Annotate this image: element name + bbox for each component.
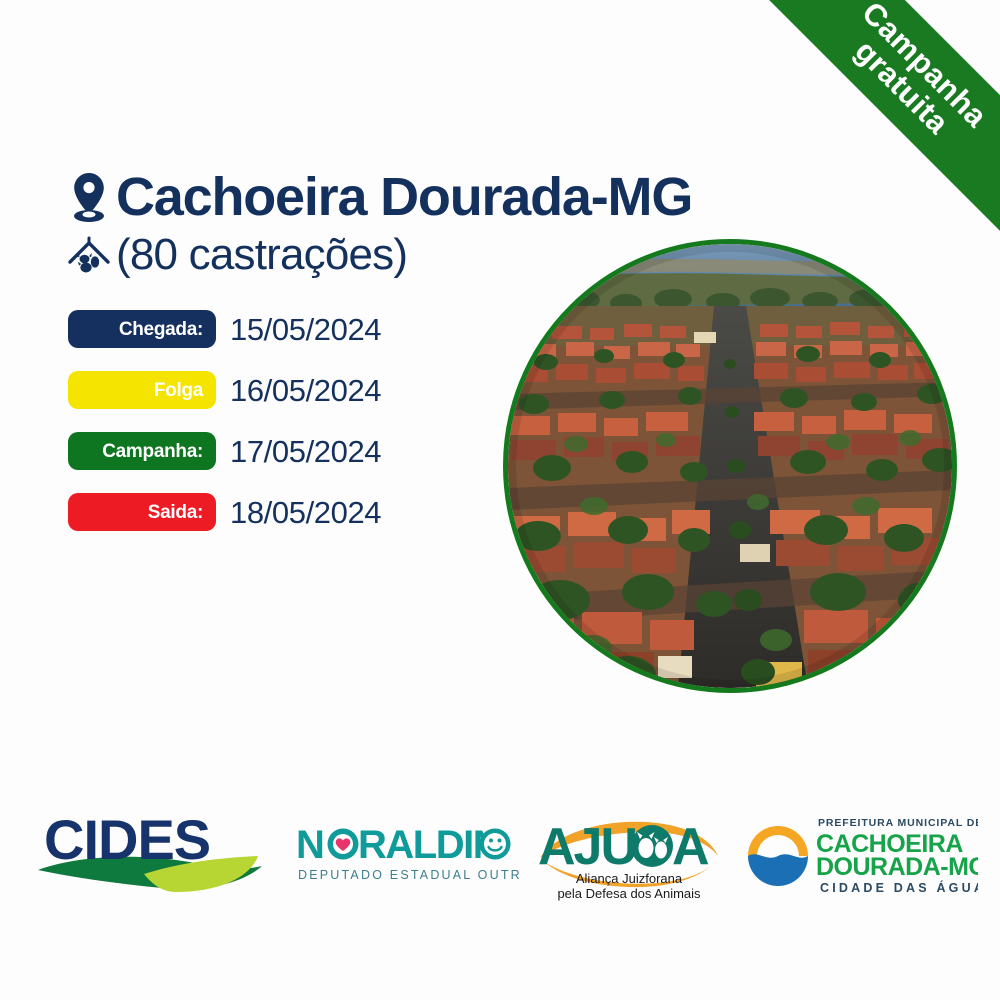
noraldino-wordmark-icon: N RALDIN DEPUTADO ESTADUAL OUTRA VEZ [292,818,520,890]
schedule-row-campaign: Campanha: 17/05/2024 [68,432,381,470]
schedule-badge-campaign: Campanha: [68,432,216,470]
prefeitura-tagline: CIDADE DAS ÁGUAS [820,880,978,895]
aerial-town-photo-graphic [508,244,952,688]
svg-text:RALDIN: RALDIN [358,823,500,867]
smiley-face-icon [480,829,511,860]
sun-water-emblem-icon [748,826,808,886]
ribbon-band: Campanha gratuita [727,0,1000,262]
ajuda-wordmark-icon: AJU A Aliança Juizforana pela Defesa dos… [536,808,722,904]
schedule-badge-departure: Saida: [68,493,216,531]
schedule-date-rest: 16/05/2024 [230,375,381,406]
svg-text:AJU: AJU [538,818,636,876]
svg-text:A: A [672,818,709,876]
aerial-town-photo [503,239,957,693]
dog-cat-in-d-icon [631,825,673,867]
schedule-date-campaign: 17/05/2024 [230,436,381,467]
schedule-badge-rest: Folga [68,371,216,409]
heart-in-o-icon [328,829,359,860]
noraldino-logo: N RALDIN DEPUTADO ESTADUAL OUTRA VEZ [292,818,520,890]
prefeitura-emblem-icon: PREFEITURA MUNICIPAL DE CACHOEIRA DOURAD… [740,810,978,898]
schedule-date-departure: 18/05/2024 [230,497,381,528]
page-subtitle: (80 castrações) [66,232,407,278]
schedule-row-rest: Folga 16/05/2024 [68,371,381,409]
prefeitura-eyebrow: PREFEITURA MUNICIPAL DE [818,817,978,829]
schedule-date-arrival: 15/05/2024 [230,314,381,345]
schedule-row-arrival: Chegada: 15/05/2024 [68,310,381,348]
schedule-badge-arrival: Chegada: [68,310,216,348]
prefeitura-cachoeira-dourada-logo: PREFEITURA MUNICIPAL DE CACHOEIRA DOURAD… [740,810,978,898]
city-name: Cachoeira Dourada-MG [116,170,692,224]
ribbon-line-1: Campanha [856,0,993,133]
svg-text:N: N [296,823,323,867]
ajuda-tagline-line-2: pela Defesa dos Animais [557,886,701,901]
ribbon-text: Campanha gratuita [833,0,992,156]
partner-logos: CIDES N RALDIN DEPUTADO ESTAD [0,800,1000,910]
page-title: Cachoeira Dourada-MG [68,170,692,224]
noraldino-tagline: DEPUTADO ESTADUAL OUTRA VEZ [298,868,520,882]
schedule-row-departure: Saida: 18/05/2024 [68,493,381,531]
ribbon-line-2: gratuita [833,19,970,156]
location-pin-icon [68,171,110,223]
schedule-list: Chegada: 15/05/2024 Folga 16/05/2024 Cam… [68,310,381,531]
ajuda-tagline-line-1: Aliança Juizforana [576,871,683,886]
cides-logo: CIDES [36,808,266,900]
ajuda-logo: AJU A Aliança Juizforana pela Defesa dos… [536,808,722,904]
schedule-label-campaign: Campanha: [102,442,203,461]
castration-count: (80 castrações) [116,233,407,277]
campaign-poster: Campanha gratuita Cachoeira Dourada-MG [0,0,1000,1000]
schedule-label-rest: Folga [154,381,203,400]
prefeitura-line-2: DOURADA-MG [816,853,978,881]
cides-wordmark: CIDES [44,812,210,868]
schedule-label-departure: Saida: [148,503,203,522]
schedule-label-arrival: Chegada: [119,320,203,339]
aerial-town-photo-inner [508,244,952,688]
pet-shelter-icon [66,232,112,278]
